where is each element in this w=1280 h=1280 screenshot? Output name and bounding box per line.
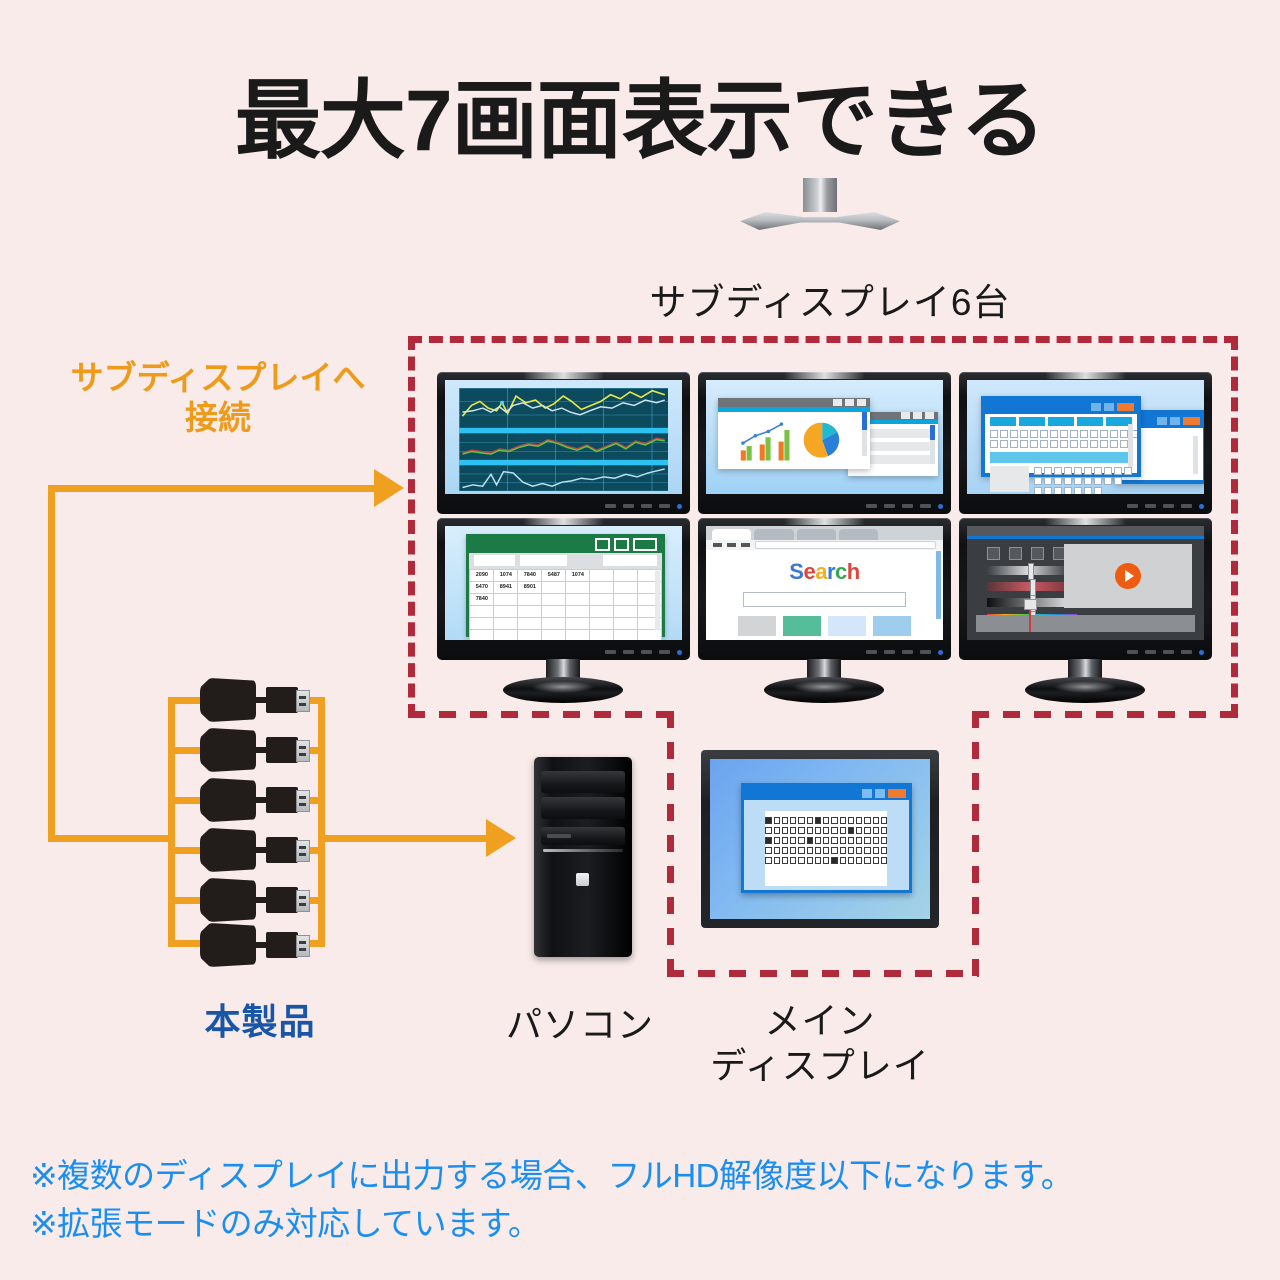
close-icon	[633, 538, 657, 551]
arrow-to-sub-displays	[374, 469, 404, 507]
monitor-stand-6	[1025, 659, 1145, 703]
adapter-body	[200, 678, 256, 722]
table-cell[interactable]	[566, 581, 590, 593]
table-cell[interactable]	[590, 617, 614, 629]
document-char	[765, 827, 771, 834]
document-char	[864, 837, 870, 844]
table-row: 20901074784054871074	[470, 569, 662, 581]
window-scrollbar[interactable]	[930, 425, 935, 465]
document-page	[765, 811, 887, 886]
document-char	[774, 847, 780, 854]
product-label: 本製品	[135, 993, 385, 1045]
document-char	[823, 827, 829, 834]
stand-base-highlight	[1053, 681, 1117, 693]
bezel-gloss	[1045, 518, 1126, 525]
search-logo-letter: a	[815, 559, 827, 584]
table-cell[interactable]	[494, 629, 518, 640]
wire-left-vertical	[48, 492, 55, 838]
power-button[interactable]	[576, 873, 589, 886]
pc-label: パソコン	[455, 996, 705, 1048]
sub-display-5[interactable]: Search	[698, 518, 951, 660]
search-logo-letter: S	[789, 559, 803, 584]
document-char	[873, 837, 879, 844]
document-text-row	[765, 847, 887, 854]
document-char	[765, 837, 771, 844]
window-titlebar	[985, 400, 1137, 414]
close-icon	[1183, 417, 1200, 425]
window-titlebar	[718, 398, 870, 406]
adapter-item[interactable]	[200, 728, 276, 772]
video-editor-app	[967, 526, 1204, 640]
document-char	[774, 837, 780, 844]
screen-3-document-windows	[967, 380, 1204, 494]
bezel-gloss	[784, 518, 865, 525]
table-cell[interactable]	[590, 605, 614, 617]
drive-bay	[541, 771, 625, 793]
monitor-controls[interactable]	[1084, 649, 1204, 655]
usb-tip-icon	[296, 740, 310, 762]
document-char	[782, 857, 788, 864]
main-display-screen	[710, 759, 930, 919]
monitor-controls[interactable]	[562, 503, 682, 509]
play-button-icon[interactable]	[1115, 563, 1141, 589]
document-char	[864, 847, 870, 854]
table-cell[interactable]	[518, 593, 542, 605]
adapter-item[interactable]	[200, 878, 276, 922]
table-cell[interactable]	[638, 629, 662, 640]
spreadsheet-app: 209010747840548710745470894189017840	[445, 526, 682, 640]
connect-to-sub-label-line1: サブディスプレイへ	[28, 358, 408, 398]
main-display-dashed-right	[972, 711, 979, 977]
power-led-icon	[677, 504, 682, 509]
usb-tip-icon	[296, 935, 310, 957]
table-cell[interactable]: 7840	[518, 569, 542, 581]
tile[interactable]	[783, 616, 821, 636]
power-led-icon	[1199, 504, 1204, 509]
document-char	[881, 817, 887, 824]
usb-tip-icon	[296, 690, 310, 712]
document-char	[807, 817, 813, 824]
search-logo-letter: e	[803, 559, 815, 584]
table-cell[interactable]	[494, 617, 518, 629]
window-ribbon	[718, 407, 870, 412]
document-char	[831, 857, 837, 864]
document-char	[782, 837, 788, 844]
screen-4-spreadsheet: 209010747840548710745470894189017840	[445, 526, 682, 640]
connect-to-sub-label: サブディスプレイへ 接続	[28, 358, 408, 439]
usb-tip-icon	[296, 840, 310, 862]
usb-connector-icon	[266, 837, 298, 863]
stock-chart-app	[445, 380, 682, 494]
table-cell[interactable]	[590, 593, 614, 605]
sub-display-6[interactable]	[959, 518, 1212, 660]
usb-connector-icon	[266, 932, 298, 958]
usb-tip-icon	[296, 890, 310, 912]
document-char	[790, 837, 796, 844]
sub-displays-dashed-bottom-left	[408, 711, 674, 718]
search-input[interactable]	[743, 592, 906, 607]
power-led-icon	[938, 504, 943, 509]
browser-tabstrip[interactable]	[706, 526, 943, 540]
table-cell[interactable]	[470, 617, 494, 629]
document-char	[856, 837, 862, 844]
diagram-canvas: 最大7画面表示できる サブディスプレイ6台 サブディスプレイへ 接続	[0, 0, 1280, 1280]
main-display-label-line2: ディスプレイ	[690, 1043, 950, 1088]
screen-1-stock-charts	[445, 380, 682, 494]
browser-tab	[797, 529, 836, 540]
document-char	[848, 837, 854, 844]
main-display-stand	[740, 178, 900, 230]
adapter-body	[200, 878, 256, 922]
maximize-icon	[875, 789, 885, 798]
video-preview[interactable]	[1064, 544, 1192, 608]
document-char	[856, 847, 862, 854]
table-cell[interactable]	[470, 605, 494, 617]
minimize-icon	[862, 789, 872, 798]
main-display-dashed-left	[667, 711, 674, 977]
tiles-row-1	[706, 616, 943, 636]
document-char	[782, 827, 788, 834]
power-led-icon	[938, 650, 943, 655]
document-char	[831, 847, 837, 854]
table-cell[interactable]	[614, 569, 638, 581]
close-icon	[1117, 403, 1134, 411]
document-char	[798, 847, 804, 854]
editor-accent-bar	[967, 536, 1204, 539]
document-char	[790, 857, 796, 864]
highlight-row	[990, 452, 1132, 463]
document-char	[790, 847, 796, 854]
bezel-gloss	[523, 372, 604, 379]
chart-pane-1	[459, 388, 668, 428]
document-char	[840, 817, 846, 824]
table-cell[interactable]	[566, 593, 590, 605]
pc-tower[interactable]	[534, 757, 632, 957]
editor-topbar	[967, 526, 1204, 536]
browser-navbar[interactable]	[706, 540, 943, 550]
document-char	[840, 857, 846, 864]
usb-tip-icon	[296, 790, 310, 812]
main-document-window[interactable]	[741, 783, 912, 893]
search-logo: Search	[706, 559, 943, 585]
footnote-2: ※拡張モードのみ対応しています。	[30, 1200, 1260, 1248]
table-row: 547089418901	[470, 581, 662, 593]
browser-tab-active	[712, 529, 751, 540]
document-char	[823, 837, 829, 844]
bezel-gloss	[784, 372, 865, 379]
document-char	[823, 817, 829, 824]
main-display-label: メイン ディスプレイ	[690, 998, 950, 1088]
window-titlebar	[744, 786, 909, 800]
chart-window-front[interactable]	[718, 398, 870, 469]
usb-connector-icon	[266, 687, 298, 713]
main-display[interactable]	[701, 750, 939, 928]
spreadsheet-grid[interactable]: 209010747840548710745470894189017840	[469, 569, 662, 640]
document-char	[881, 827, 887, 834]
table-cell[interactable]	[590, 569, 614, 581]
table-row	[470, 617, 662, 629]
table-cell[interactable]: 5487	[542, 569, 566, 581]
monitor-stand-4	[503, 659, 623, 703]
text-row	[985, 439, 1137, 449]
usb-connector-icon	[266, 787, 298, 813]
table-cell[interactable]: 8901	[518, 581, 542, 593]
table-cell[interactable]	[542, 581, 566, 593]
power-led-icon	[677, 650, 682, 655]
chart-pane-3	[459, 465, 668, 491]
document-char	[881, 837, 887, 844]
table-cell[interactable]	[566, 605, 590, 617]
adapter-item[interactable]	[200, 678, 276, 722]
adapter-item[interactable]	[200, 923, 276, 967]
reload-icon	[741, 543, 750, 547]
bezel-gloss	[1045, 372, 1126, 379]
main-display-dashed-bottom	[667, 970, 979, 977]
table-cell[interactable]	[518, 629, 542, 640]
table-cell[interactable]	[614, 581, 638, 593]
footnote-1: ※複数のディスプレイに出力する場合、フルHD解像度以下になります。	[30, 1152, 1260, 1200]
adapter-item[interactable]	[200, 828, 276, 872]
table-cell[interactable]	[494, 593, 518, 605]
table-cell[interactable]	[614, 593, 638, 605]
sub-displays-heading: サブディスプレイ6台	[560, 272, 1100, 326]
sub-displays-dashed-bottom-right	[972, 711, 1238, 718]
document-char	[831, 837, 837, 844]
document-char	[798, 827, 804, 834]
adapter-body	[200, 728, 256, 772]
browser-tab	[839, 529, 878, 540]
drive-bay	[541, 797, 625, 819]
browser-url-bar[interactable]	[755, 541, 936, 549]
tile[interactable]	[738, 616, 776, 636]
browser-scrollbar[interactable]	[936, 551, 941, 619]
tile[interactable]	[828, 616, 866, 636]
document-char	[790, 827, 796, 834]
document-char	[831, 817, 837, 824]
chart-panel-wrap	[459, 388, 668, 486]
spreadsheet-toolbar[interactable]	[469, 553, 662, 569]
document-char	[873, 827, 879, 834]
forward-icon	[727, 543, 736, 547]
document-char	[765, 847, 771, 854]
document-char	[774, 817, 780, 824]
power-led-icon	[1199, 650, 1204, 655]
table-cell[interactable]	[614, 605, 638, 617]
search-logo-letter: c	[835, 559, 847, 584]
document-char	[823, 857, 829, 864]
table-cell[interactable]	[614, 629, 638, 640]
table-row	[470, 629, 662, 640]
document-char	[848, 847, 854, 854]
monitor-controls[interactable]	[562, 649, 682, 655]
table-cell[interactable]	[590, 581, 614, 593]
document-char	[840, 827, 846, 834]
table-cell[interactable]: 2090	[470, 569, 494, 581]
document-char	[873, 817, 879, 824]
document-char	[807, 827, 813, 834]
document-char	[815, 857, 821, 864]
pie-chart	[804, 422, 840, 457]
table-cell[interactable]: 8941	[494, 581, 518, 593]
document-char	[798, 857, 804, 864]
office-chart-app	[706, 380, 943, 494]
document-char	[774, 827, 780, 834]
text-row	[985, 429, 1137, 439]
timeline-playhead[interactable]	[1029, 607, 1031, 632]
document-char	[864, 857, 870, 864]
table-cell[interactable]	[590, 629, 614, 640]
monitor-controls[interactable]	[823, 503, 943, 509]
sub-display-3[interactable]	[959, 372, 1212, 514]
table-header-row	[985, 414, 1137, 429]
table-cell[interactable]	[542, 629, 566, 640]
adapter-group	[160, 665, 360, 985]
document-char	[873, 847, 879, 854]
tile[interactable]	[873, 616, 911, 636]
connect-to-sub-label-line2: 接続	[28, 398, 408, 438]
monitor-controls[interactable]	[1084, 503, 1204, 509]
document-char	[807, 857, 813, 864]
sub-display-4[interactable]: 209010747840548710745470894189017840	[437, 518, 690, 660]
table-cell[interactable]	[542, 617, 566, 629]
document-text-row	[765, 837, 887, 844]
search-logo-letter: r	[827, 559, 835, 584]
maximize-icon	[614, 538, 629, 551]
text-row	[1034, 486, 1132, 494]
stand-neck	[803, 178, 837, 212]
wire-bus-to-adapters	[48, 835, 168, 842]
document-char	[840, 837, 846, 844]
document-char	[848, 817, 854, 824]
window-scrollbar[interactable]	[862, 412, 867, 456]
document-char	[864, 827, 870, 834]
document-char	[798, 837, 804, 844]
document-char	[807, 847, 813, 854]
document-char	[815, 847, 821, 854]
document-char	[864, 817, 870, 824]
table-cell[interactable]	[566, 617, 590, 629]
document-char	[881, 857, 887, 864]
document-char	[815, 827, 821, 834]
spreadsheet-window[interactable]: 209010747840548710745470894189017840	[466, 534, 665, 637]
table-cell[interactable]: 1074	[566, 569, 590, 581]
document-text-row	[765, 827, 887, 834]
document-char	[881, 847, 887, 854]
front-panel-line	[543, 849, 623, 852]
text-row	[1034, 466, 1132, 476]
wire-top-horizontal	[48, 485, 378, 492]
document-text-row	[765, 817, 887, 824]
screen-5-search-browser: Search	[706, 526, 943, 640]
document-char	[823, 847, 829, 854]
document-app	[967, 380, 1204, 494]
editor-timeline[interactable]	[976, 615, 1194, 632]
monitor-stand-5	[764, 659, 884, 703]
sub-display-2[interactable]	[698, 372, 951, 514]
table-cell[interactable]	[542, 605, 566, 617]
usb-connector-icon	[266, 887, 298, 913]
document-char	[848, 857, 854, 864]
table-cell[interactable]	[494, 605, 518, 617]
screen-6-video-editor	[967, 526, 1204, 640]
stand-base-highlight	[792, 681, 856, 693]
document-char	[765, 857, 771, 864]
table-cell[interactable]	[614, 617, 638, 629]
document-char	[782, 817, 788, 824]
document-char	[856, 817, 862, 824]
footnotes: ※複数のディスプレイに出力する場合、フルHD解像度以下になります。 ※拡張モード…	[30, 1152, 1260, 1248]
document-char	[873, 857, 879, 864]
monitor-controls[interactable]	[823, 649, 943, 655]
table-cell[interactable]: 7840	[470, 593, 494, 605]
table-cell[interactable]	[470, 629, 494, 640]
document-char	[765, 817, 771, 824]
table-cell[interactable]: 1074	[494, 569, 518, 581]
document-char	[815, 817, 821, 824]
document-char	[807, 837, 813, 844]
browser-tab	[754, 529, 793, 540]
chart-pane-2	[459, 433, 668, 459]
document-char	[848, 827, 854, 834]
bezel-gloss	[523, 518, 604, 525]
adapter-body	[200, 828, 256, 872]
document-char	[831, 827, 837, 834]
main-display-label-line1: メイン	[690, 998, 950, 1043]
document-char	[815, 837, 821, 844]
spreadsheet-scrollbar[interactable]	[655, 571, 660, 630]
document-window-front[interactable]	[981, 396, 1141, 477]
document-char	[782, 847, 788, 854]
close-icon	[888, 789, 906, 798]
table-cell[interactable]: 5470	[470, 581, 494, 593]
table-cell[interactable]	[566, 629, 590, 640]
stand-base-highlight	[531, 681, 595, 693]
table-row	[470, 605, 662, 617]
screen-2-office-charts	[706, 380, 943, 494]
table-cell[interactable]	[518, 605, 542, 617]
minimize-icon	[595, 538, 610, 551]
document-char	[798, 817, 804, 824]
document-char	[774, 857, 780, 864]
document-char	[840, 847, 846, 854]
document-text-row	[765, 857, 887, 864]
sub-display-1[interactable]	[437, 372, 690, 514]
arrow-to-pc	[486, 819, 516, 857]
document-char	[856, 857, 862, 864]
back-icon	[713, 543, 722, 547]
search-browser-app: Search	[706, 526, 943, 640]
table-cell[interactable]	[518, 617, 542, 629]
search-logo-letter: h	[847, 559, 860, 584]
adapter-body	[200, 923, 256, 967]
page-title: 最大7画面表示できる	[0, 78, 1280, 164]
text-row	[1034, 476, 1132, 486]
document-char	[856, 827, 862, 834]
table-cell[interactable]	[542, 593, 566, 605]
optical-drive-slot[interactable]	[547, 834, 571, 838]
spreadsheet-body: 209010747840548710745470894189017840	[470, 569, 662, 640]
adapter-body	[200, 778, 256, 822]
document-char	[790, 817, 796, 824]
table-row: 7840	[470, 593, 662, 605]
adapter-item[interactable]	[200, 778, 276, 822]
window-titlebar	[469, 537, 662, 553]
usb-connector-icon	[266, 737, 298, 763]
